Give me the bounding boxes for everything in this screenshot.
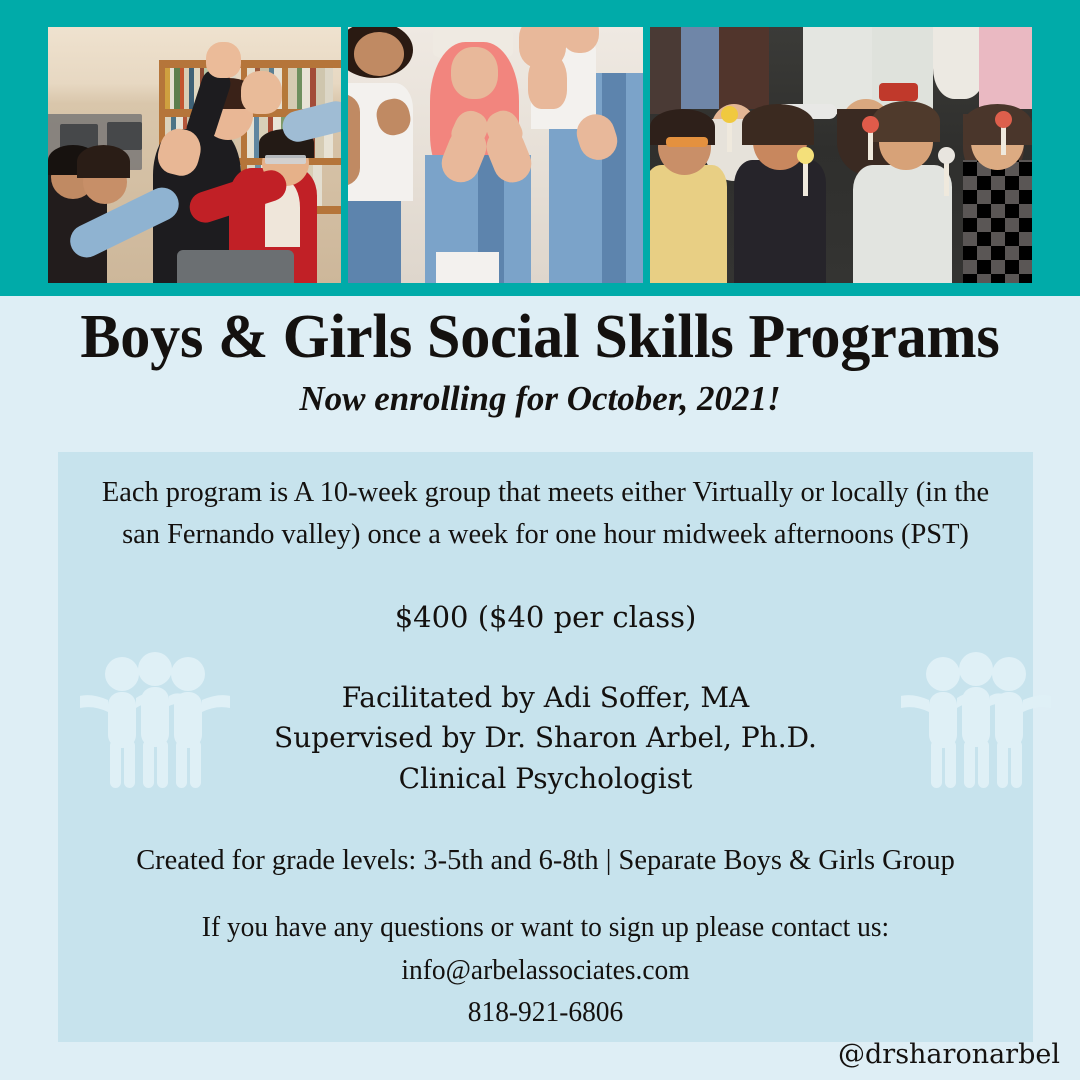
facilitator-line: Facilitated by Adi Soffer, MA [58, 678, 1033, 718]
page-title: Boys & Girls Social Skills Programs [16, 306, 1064, 368]
photo-teens-high-five-library [48, 27, 341, 283]
supervisor-line: Supervised by Dr. Sharon Arbel, Ph.D. [58, 718, 1033, 758]
photo-teens-lollipops-circle [650, 27, 1032, 283]
info-panel: Each program is A 10-week group that mee… [58, 452, 1033, 1042]
credential-line: Clinical Psychologist [58, 759, 1033, 799]
contact-email[interactable]: info@arbelassociates.com [68, 950, 1024, 993]
contact-block: If you have any questions or want to sig… [68, 907, 1024, 1035]
photo-strip [48, 27, 1032, 283]
social-handle[interactable]: @drsharonarbel [838, 1039, 1060, 1070]
contact-prompt: If you have any questions or want to sig… [68, 907, 1024, 950]
grade-levels-text: Created for grade levels: 3-5th and 6-8t… [68, 843, 1024, 878]
contact-phone[interactable]: 818-921-6806 [68, 992, 1024, 1035]
photo-teens-denim-heart-hands [348, 27, 644, 283]
facilitator-block: Facilitated by Adi Soffer, MA Supervised… [58, 678, 1033, 798]
program-description: Each program is A 10-week group that mee… [68, 471, 1024, 556]
page-subtitle: Now enrolling for October, 2021! [0, 381, 1080, 416]
price-text: $400 ($40 per class) [58, 600, 1033, 635]
flyer: Boys & Girls Social Skills Programs Now … [0, 0, 1080, 1080]
